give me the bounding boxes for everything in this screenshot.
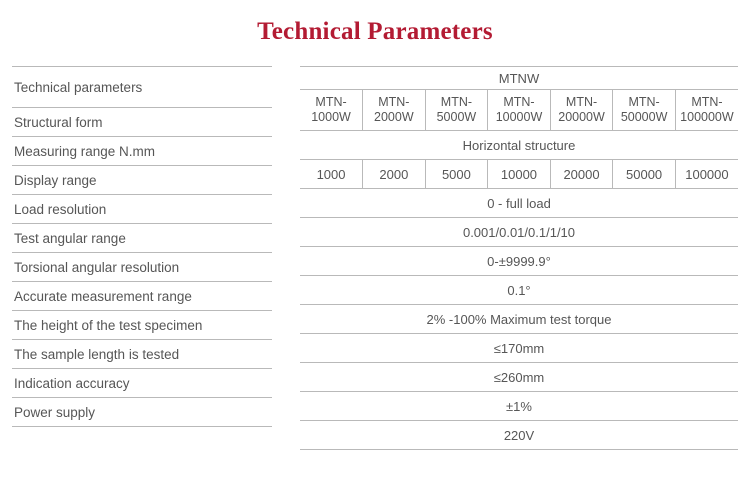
value-cell-merged: Horizontal structure [300,131,738,160]
label-table: Technical parameters Structural formMeas… [12,66,272,427]
parameter-label: Indication accuracy [12,369,272,398]
value-row: ±1% [300,392,738,421]
value-row: ≤260mm [300,363,738,392]
label-row: Display range [12,166,272,195]
value-cell: 100000 [675,160,738,189]
value-row: 0 - full load [300,189,738,218]
page-title: Technical Parameters [0,0,750,47]
parameter-label: The height of the test specimen [12,311,272,340]
model-header-cell: MTN-50000W [613,90,676,131]
series-name-cell: MTNW [300,67,738,90]
value-cell: 5000 [425,160,488,189]
value-cell: 2000 [363,160,426,189]
value-cell-merged: ±1% [300,392,738,421]
model-header-row: MTN-1000WMTN-2000WMTN-5000WMTN-10000WMTN… [300,90,738,131]
value-cell-merged: 0-±9999.9° [300,247,738,276]
label-row: Structural form [12,108,272,137]
model-header-cell: MTN-10000W [488,90,551,131]
label-row: Power supply [12,398,272,427]
label-row: Accurate measurement range [12,282,272,311]
model-header-cell: MTN-2000W [363,90,426,131]
label-row: Load resolution [12,195,272,224]
value-row: 0.1° [300,276,738,305]
label-table-body: Technical parameters Structural formMeas… [12,67,272,427]
value-cell-merged: 220V [300,421,738,450]
value-cell-merged: 0.1° [300,276,738,305]
label-row: Torsional angular resolution [12,253,272,282]
value-row: ≤170mm [300,334,738,363]
parameter-label: Test angular range [12,224,272,253]
label-row: Measuring range N.mm [12,137,272,166]
values-table: MTNW MTN-1000WMTN-2000WMTN-5000WMTN-1000… [300,66,738,450]
parameter-label: Measuring range N.mm [12,137,272,166]
label-row: Indication accuracy [12,369,272,398]
parameters-column-header: Technical parameters [12,67,272,108]
value-row: 0.001/0.01/0.1/1/10 [300,218,738,247]
parameter-label: Structural form [12,108,272,137]
parameter-label: Display range [12,166,272,195]
value-cell: 20000 [550,160,613,189]
value-cell-merged: 0 - full load [300,189,738,218]
value-cell: 1000 [300,160,363,189]
label-row: The sample length is tested [12,340,272,369]
values-table-body: MTNW MTN-1000WMTN-2000WMTN-5000WMTN-1000… [300,67,738,450]
value-cell-merged: 2% -100% Maximum test torque [300,305,738,334]
value-row: 2% -100% Maximum test torque [300,305,738,334]
series-header-row: MTNW [300,67,738,90]
values-column: MTNW MTN-1000WMTN-2000WMTN-5000WMTN-1000… [300,66,738,450]
model-header-cell: MTN-5000W [425,90,488,131]
parameter-label: Accurate measurement range [12,282,272,311]
model-header-cell: MTN-100000W [675,90,738,131]
parameter-label-column: Technical parameters Structural formMeas… [12,66,272,427]
model-header-cell: MTN-20000W [550,90,613,131]
value-cell-merged: 0.001/0.01/0.1/1/10 [300,218,738,247]
value-cell-merged: ≤260mm [300,363,738,392]
parameter-label: Load resolution [12,195,272,224]
value-cell: 50000 [613,160,676,189]
parameter-label: Torsional angular resolution [12,253,272,282]
model-header-cell: MTN-1000W [300,90,363,131]
value-row: Horizontal structure [300,131,738,160]
label-header-row: Technical parameters [12,67,272,108]
value-row: 220V [300,421,738,450]
value-row: 0-±9999.9° [300,247,738,276]
value-cell: 10000 [488,160,551,189]
parameter-label: Power supply [12,398,272,427]
value-cell-merged: ≤170mm [300,334,738,363]
specifications-table: Technical parameters Structural formMeas… [0,66,750,450]
parameter-label: The sample length is tested [12,340,272,369]
value-row: 100020005000100002000050000100000 [300,160,738,189]
label-row: Test angular range [12,224,272,253]
label-row: The height of the test specimen [12,311,272,340]
